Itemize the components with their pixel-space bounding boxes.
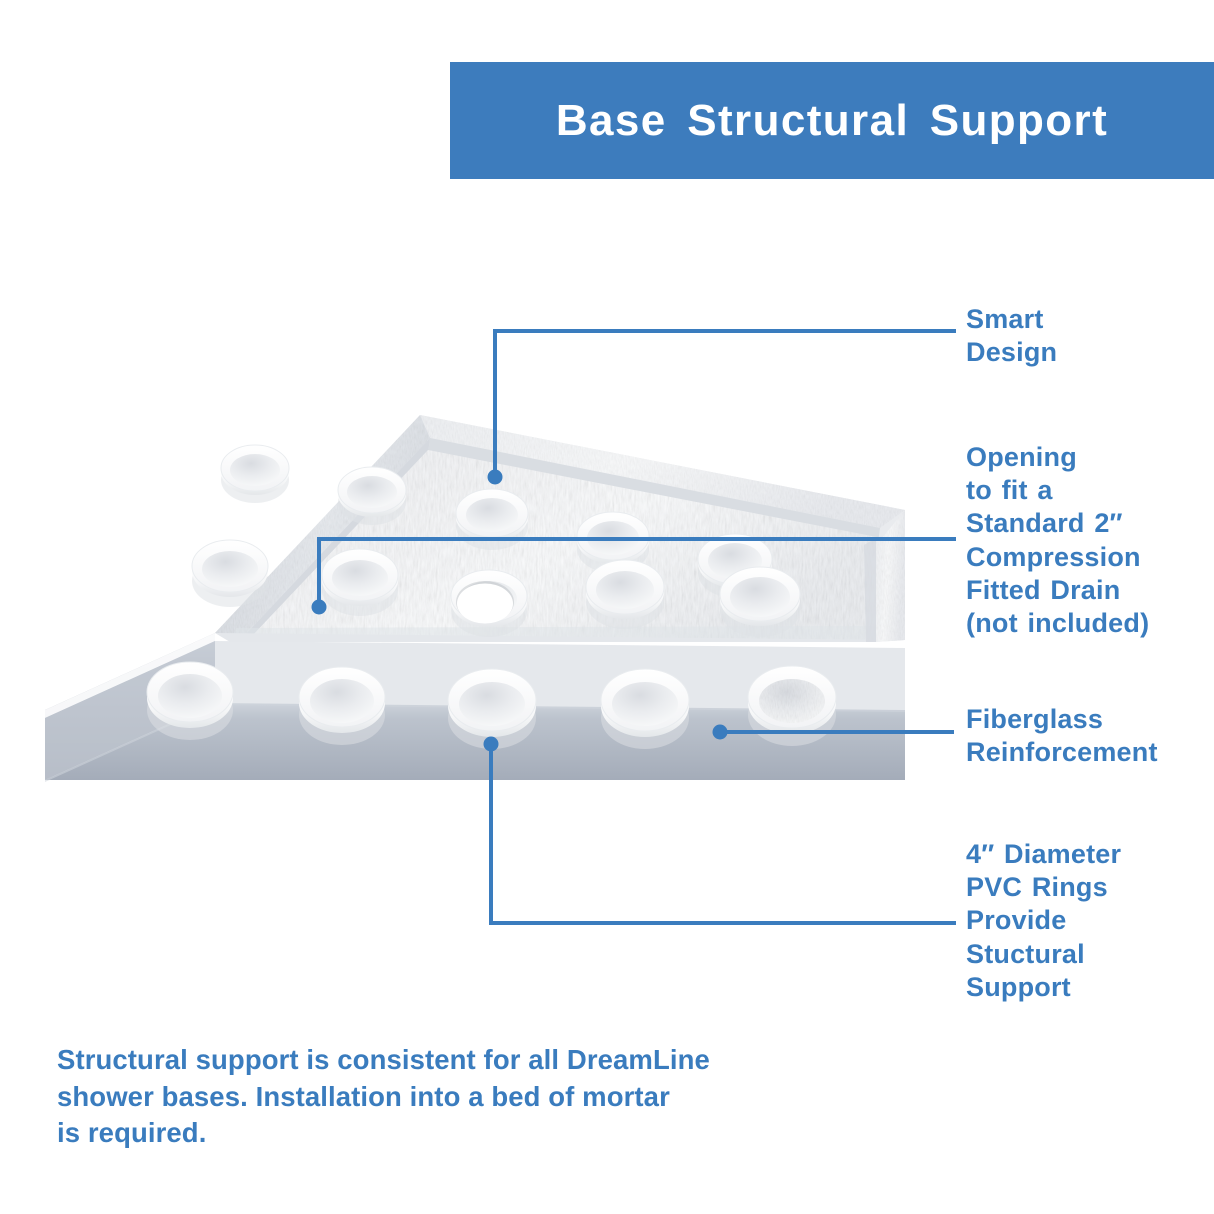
caption-line: Structural support is consistent for all… [57, 1042, 817, 1079]
callout-line: Stuctural [966, 938, 1121, 971]
pvc-ring [720, 567, 800, 637]
callout-line: Fiberglass [966, 703, 1158, 736]
callout-line: Provide [966, 904, 1121, 937]
callout-line: PVC Rings [966, 871, 1121, 904]
callout-line: 4″ Diameter [966, 838, 1121, 871]
callout-line: Smart [966, 303, 1057, 336]
pvc-ring [221, 445, 289, 503]
callout-line: Reinforcement [966, 736, 1158, 769]
callout-line: Design [966, 336, 1057, 369]
callout-drain-opening: Opening to fit a Standard 2″ Compression… [966, 441, 1149, 640]
pvc-ring [338, 467, 406, 525]
caption-line: is required. [57, 1115, 817, 1152]
header-banner: Base Structural Support [450, 62, 1214, 179]
callout-line: (not included) [966, 607, 1149, 640]
callout-pvc-rings: 4″ Diameter PVC Rings Provide Stuctural … [966, 838, 1121, 1004]
callout-line: Standard 2″ [966, 507, 1149, 540]
pvc-ring [322, 549, 398, 616]
callout-fiberglass-reinforcement: Fiberglass Reinforcement [966, 703, 1158, 769]
callout-line: Support [966, 971, 1121, 1004]
callout-line: Compression [966, 541, 1149, 574]
drain-opening [456, 581, 514, 624]
shower-base-illustration [0, 380, 960, 850]
callout-line: to fit a [966, 474, 1149, 507]
pvc-ring [456, 489, 528, 550]
pvc-ring [192, 540, 268, 607]
base-lip-right-inner [864, 538, 876, 642]
page-title: Base Structural Support [556, 99, 1108, 143]
shower-base-body [45, 415, 905, 782]
footer-caption: Structural support is consistent for all… [57, 1042, 817, 1152]
infographic-canvas: Base Structural Support Smart Design Ope… [0, 0, 1214, 1214]
caption-line: shower bases. Installation into a bed of… [57, 1079, 817, 1116]
callout-line: Fitted Drain [966, 574, 1149, 607]
pvc-ring [586, 560, 664, 629]
pvc-ring [147, 662, 233, 740]
callout-smart-design: Smart Design [966, 303, 1057, 369]
callout-line: Opening [966, 441, 1149, 474]
